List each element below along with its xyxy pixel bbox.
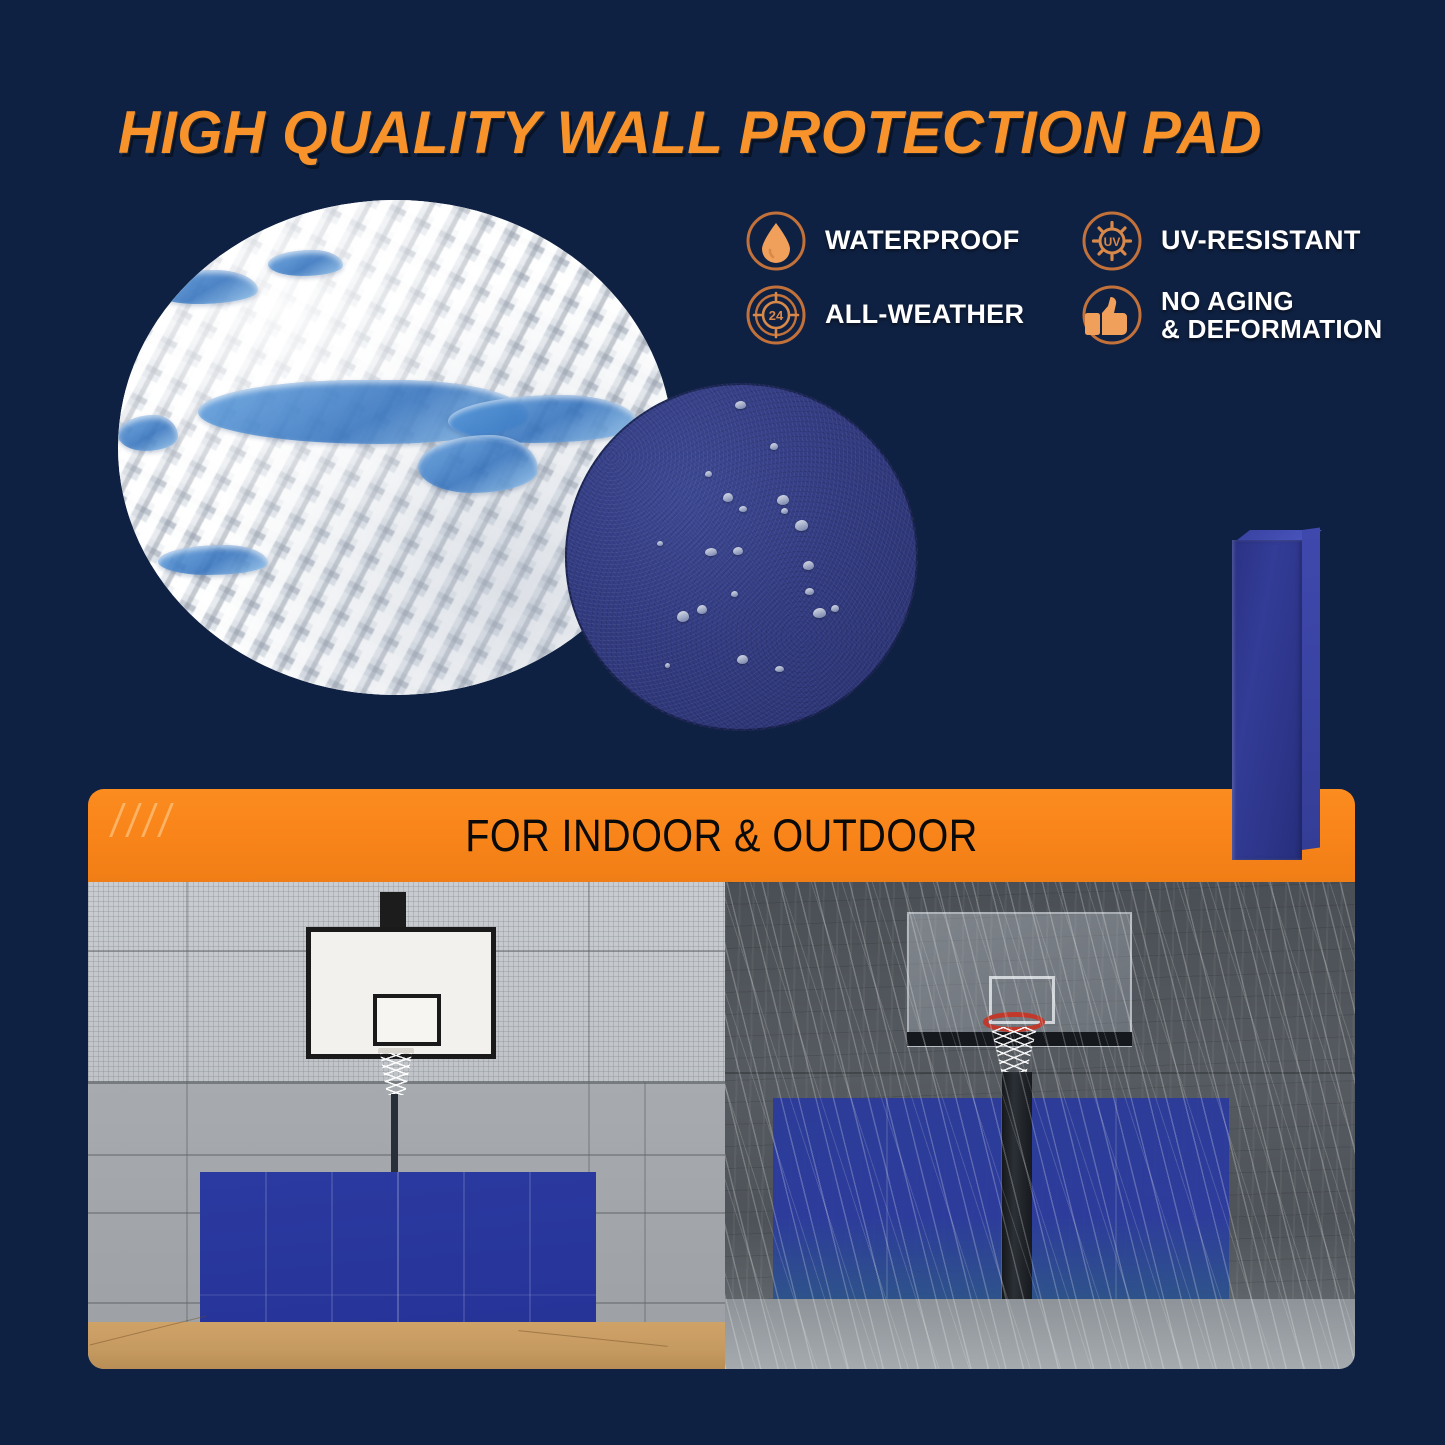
water-bead (118, 415, 178, 451)
indoor-gym-photo (88, 882, 725, 1369)
surface-droplet (735, 401, 746, 409)
blue-vinyl-droplet-circle (565, 383, 918, 731)
slash-mark (125, 803, 142, 837)
surface-droplet (731, 591, 738, 597)
surface-droplet (733, 547, 743, 555)
surface-droplet (739, 506, 747, 512)
surface-droplet (677, 611, 689, 622)
surface-droplet (795, 520, 808, 531)
slash-mark (109, 803, 126, 837)
feature-label: ALL-WEATHER (825, 300, 1024, 329)
pad-seam (200, 1294, 596, 1296)
banner-title: FOR INDOOR & OUTDOOR (164, 789, 1279, 882)
water-drop-icon (745, 210, 807, 272)
thumbs-up-icon (1081, 284, 1143, 346)
surface-droplet (665, 663, 670, 668)
basketball-backboard (306, 927, 496, 1059)
feature-all-weather: 24 ALL-WEATHER (745, 284, 1081, 346)
slash-mark (141, 803, 158, 837)
application-photos (88, 882, 1355, 1369)
floor-line (518, 1330, 667, 1347)
surface-droplet (657, 541, 663, 546)
vinyl-grain-texture (565, 383, 918, 731)
surface-droplet (723, 493, 733, 502)
wall-joint-line (88, 1154, 725, 1156)
gym-wood-floor (88, 1322, 725, 1369)
24-hour-clock-icon: 24 (745, 284, 807, 346)
feature-label: NO AGING & DEFORMATION (1161, 287, 1383, 343)
surface-droplet (705, 471, 712, 477)
hours-icon-text: 24 (769, 308, 784, 323)
hoop-support-pole (391, 1094, 398, 1172)
surface-droplet (775, 666, 784, 672)
surface-droplet (781, 508, 788, 514)
surface-droplet (831, 605, 839, 612)
pad-side-face (1302, 527, 1320, 850)
surface-droplet (705, 548, 717, 556)
poster-canvas: HIGH QUALITY WALL PROTECTION PAD (0, 0, 1445, 1445)
pad-edge-highlight (1232, 540, 1302, 860)
backboard-inner-square (373, 994, 441, 1046)
water-bead (158, 545, 268, 575)
surface-droplet (805, 588, 814, 595)
blue-wall-pad-panel (1232, 530, 1320, 860)
uv-sun-icon: UV (1081, 210, 1143, 272)
feature-label: UV-RESISTANT (1161, 226, 1361, 255)
feature-waterproof: WATERPROOF (745, 198, 1081, 284)
feature-list: WATERPROOF UV (745, 198, 1405, 346)
water-bead (268, 250, 343, 276)
wall-joint-line (186, 882, 188, 1322)
rain-streaks (725, 882, 1355, 1369)
feature-label: WATERPROOF (825, 226, 1020, 255)
uv-icon-text: UV (1104, 235, 1121, 249)
surface-droplet (777, 495, 789, 505)
surface-droplet (803, 561, 814, 570)
surface-droplet (770, 443, 778, 450)
page-title: HIGH QUALITY WALL PROTECTION PAD (118, 98, 1262, 167)
feature-no-aging-deformation: NO AGING & DEFORMATION (1081, 284, 1405, 346)
outdoor-rain-photo (725, 882, 1355, 1369)
indoor-outdoor-banner: FOR INDOOR & OUTDOOR (88, 789, 1355, 882)
surface-droplet (737, 655, 748, 664)
surface-droplet (697, 605, 707, 614)
water-bead (148, 270, 258, 304)
feature-uv-resistant: UV UV-RESISTANT (1081, 198, 1405, 284)
surface-droplet (813, 608, 826, 618)
wall-joint-line (644, 1082, 646, 1322)
